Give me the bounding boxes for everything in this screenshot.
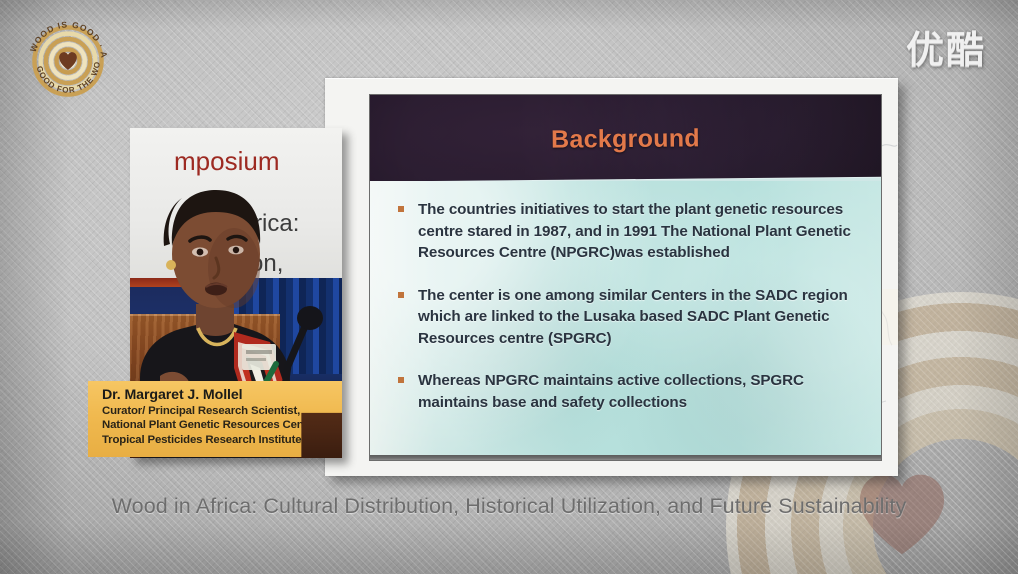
slide-title: Background [370,123,881,156]
projected-slide: Background The countries initiatives to … [369,94,882,461]
video-frame: WOOD IS GOOD · AND GOOD FOR THE WORLD 优酷… [0,0,1018,574]
youku-watermark: 优酷 [906,19,986,74]
slide-bullet-list: The countries initiatives to start the p… [396,199,863,435]
speaker-organization: National Plant Genetic Resources Centre [102,418,332,432]
wood-is-good-logo-icon: WOOD IS GOOD · AND GOOD FOR THE WORLD [14,8,122,114]
speaker-name: Dr. Margaret J. Mollel [102,387,332,403]
list-item: The countries initiatives to start the p… [396,199,863,264]
list-item: The center is one among similar Centers … [396,285,863,350]
speaker-role: Curator/ Principal Research Scientist, [102,404,332,418]
presentation-caption: Wood in Africa: Cultural Distribution, H… [0,494,1018,519]
list-item: Whereas NPGRC maintains active collectio… [396,370,863,413]
slide-card: Background The countries initiatives to … [325,78,898,476]
slide-body: The countries initiatives to start the p… [370,181,881,460]
speaker-institute: Tropical Pesticides Research Institute [102,433,332,447]
